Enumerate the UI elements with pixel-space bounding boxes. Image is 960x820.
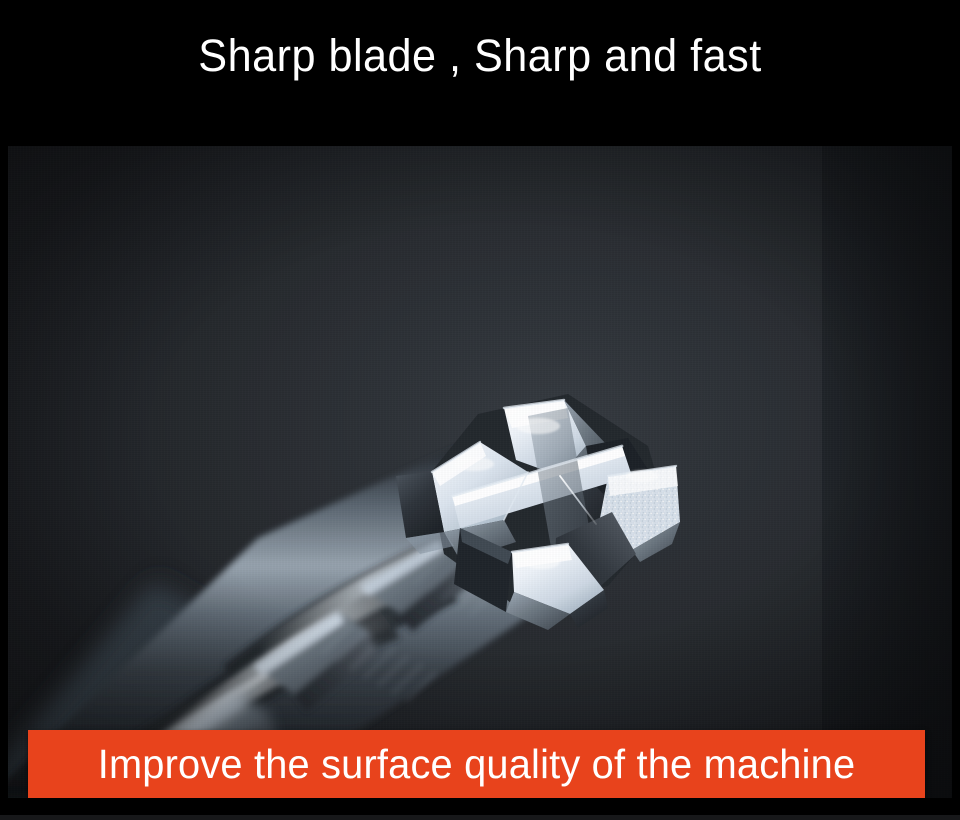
- bottom-hairline: [0, 815, 960, 820]
- headline-band: Sharp blade , Sharp and fast: [0, 0, 960, 146]
- end-mill-tool-illustration: [8, 146, 952, 798]
- product-photo: [8, 146, 952, 798]
- caption-banner-text: Improve the surface quality of the machi…: [98, 739, 856, 789]
- product-banner-page: Sharp blade , Sharp and fast: [0, 0, 960, 820]
- caption-banner: Improve the surface quality of the machi…: [28, 730, 925, 798]
- page-title: Sharp blade , Sharp and fast: [19, 26, 941, 86]
